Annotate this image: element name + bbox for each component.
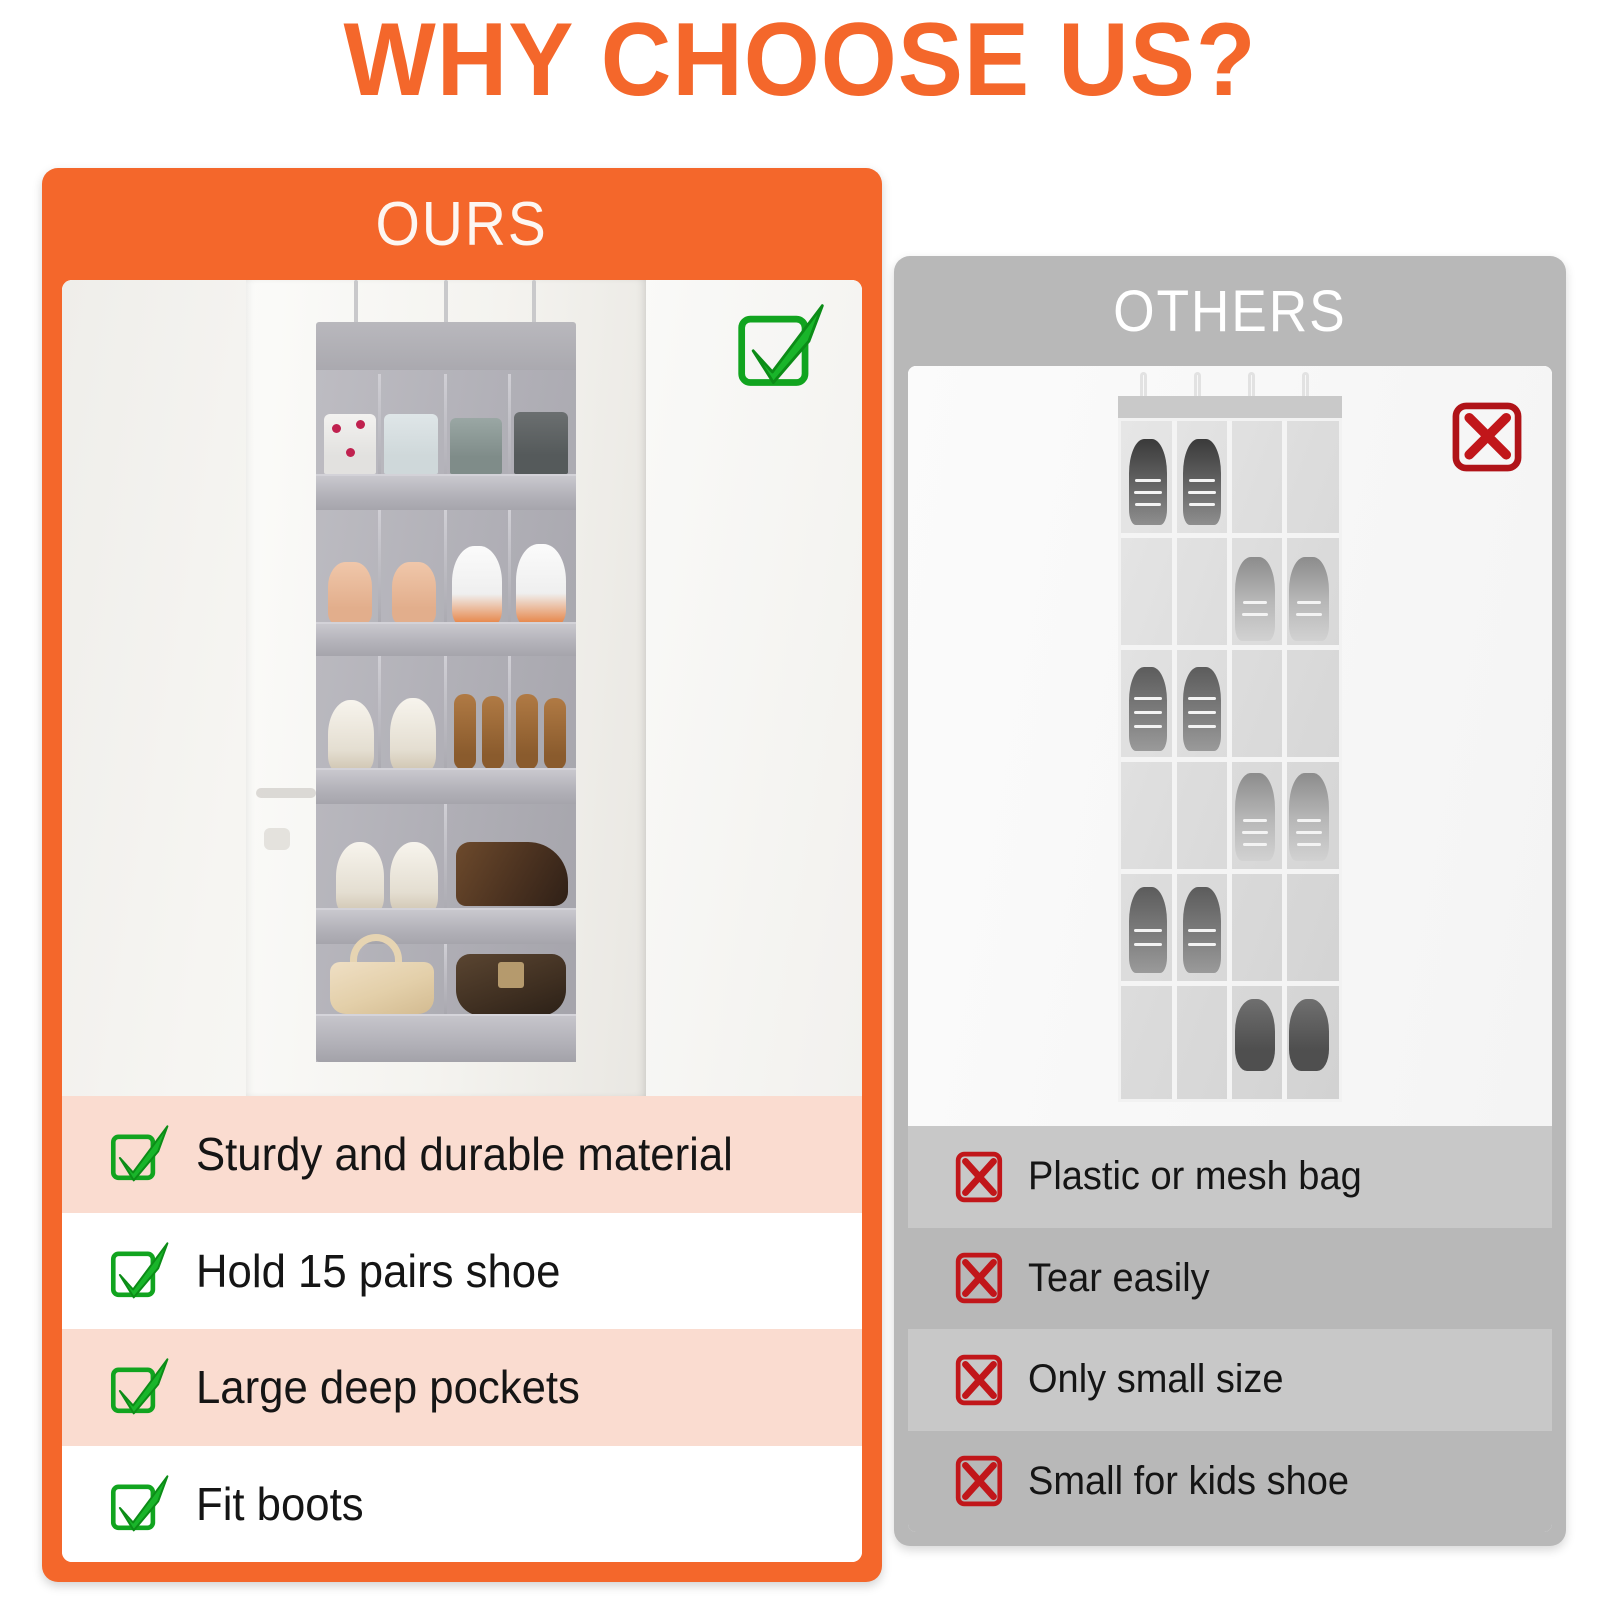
pocket-divider — [378, 656, 381, 784]
hook-strap — [354, 280, 358, 326]
list-item[interactable]: Hold 15 pairs shoe — [62, 1213, 862, 1330]
list-item-label: Small for kids shoe — [1028, 1459, 1349, 1504]
stored-shoe — [1183, 887, 1221, 973]
list-item[interactable]: Large deep pockets — [62, 1329, 862, 1446]
list-item[interactable]: Only small size — [908, 1329, 1552, 1431]
stored-shoe — [392, 562, 436, 624]
others-header-label: OTHERS — [1113, 278, 1346, 345]
list-item-label: Hold 15 pairs shoe — [196, 1244, 560, 1298]
stored-item — [384, 414, 438, 474]
stored-shoe — [1129, 667, 1167, 751]
stored-shoe — [454, 694, 476, 770]
stored-shoe — [482, 696, 504, 770]
door-handle-icon — [256, 788, 316, 798]
stored-shoe — [516, 544, 566, 626]
stored-item — [324, 414, 376, 474]
hook-icon — [1194, 372, 1201, 396]
pocket-divider — [508, 510, 511, 638]
fabric-organizer — [316, 322, 576, 1062]
comparison-infographic: WHY CHOOSE US? OURS — [0, 0, 1600, 1600]
green-check-icon — [734, 298, 830, 394]
pocket-band — [316, 622, 576, 656]
mesh-organizer — [1118, 390, 1342, 1102]
stored-shoe — [390, 698, 436, 772]
stored-shoe — [1183, 439, 1221, 525]
stored-shoe — [390, 842, 438, 914]
stored-slipper — [1235, 999, 1275, 1071]
stored-shoe — [1235, 557, 1275, 641]
stored-handbag — [330, 962, 434, 1014]
others-card: Plastic or mesh bag Tear easily — [908, 366, 1552, 1532]
list-item-label: Fit boots — [196, 1477, 364, 1531]
stored-shoe — [328, 700, 374, 772]
pocket-front-panel — [316, 1014, 576, 1062]
hook-strap — [444, 280, 448, 326]
stored-shoe — [336, 842, 384, 914]
others-product-photo — [908, 366, 1552, 1126]
stored-shoe — [1235, 773, 1275, 861]
hook-icon — [1248, 372, 1255, 396]
list-item[interactable]: Plastic or mesh bag — [908, 1126, 1552, 1228]
ours-feature-list: Sturdy and durable material Hold 15 pair… — [62, 1096, 862, 1562]
list-item-label: Only small size — [1028, 1357, 1284, 1402]
pocket-divider — [444, 944, 447, 1018]
stored-boot — [456, 842, 568, 906]
ours-header-label: OURS — [376, 189, 548, 260]
red-cross-icon — [954, 1151, 1006, 1203]
ours-card: Sturdy and durable material Hold 15 pair… — [62, 280, 862, 1562]
pocket-divider — [444, 656, 447, 784]
list-item-label: Tear easily — [1028, 1256, 1210, 1301]
list-item[interactable]: Sturdy and durable material — [62, 1096, 862, 1213]
organizer-top-panel — [316, 322, 576, 374]
stored-item — [450, 418, 502, 474]
ours-panel-header: OURS — [42, 168, 882, 280]
pocket-divider — [378, 510, 381, 638]
green-check-icon — [108, 1121, 174, 1187]
list-item-label: Plastic or mesh bag — [1028, 1154, 1362, 1199]
stored-item — [514, 412, 568, 474]
stored-bag — [456, 954, 566, 1016]
stored-shoe — [1129, 887, 1167, 973]
hook-icon — [1302, 372, 1309, 396]
green-check-icon — [108, 1471, 174, 1537]
stored-shoe — [1289, 557, 1329, 641]
list-item-label: Large deep pockets — [196, 1360, 580, 1414]
pocket-divider — [508, 656, 511, 784]
stored-shoe — [1183, 667, 1221, 751]
list-item[interactable]: Fit boots — [62, 1446, 862, 1563]
stored-slipper — [1289, 999, 1329, 1071]
mesh-top-band — [1118, 396, 1342, 418]
ours-panel: OURS — [42, 168, 882, 1582]
page-title: WHY CHOOSE US? — [48, 2, 1552, 118]
green-check-icon — [108, 1238, 174, 1304]
door-lock-icon — [264, 828, 290, 850]
hook-icon — [1140, 372, 1147, 396]
list-item-label: Sturdy and durable material — [196, 1127, 733, 1181]
others-panel: OTHERS — [894, 256, 1566, 1546]
stored-shoe — [516, 694, 538, 770]
stored-shoe — [452, 546, 502, 626]
stored-shoe — [1289, 773, 1329, 861]
pocket-band — [316, 474, 576, 510]
red-cross-icon — [954, 1252, 1006, 1304]
hook-strap — [532, 280, 536, 326]
green-check-icon — [108, 1354, 174, 1420]
mesh-body — [1118, 418, 1342, 1102]
stored-shoe — [328, 562, 372, 624]
stored-shoe — [544, 698, 566, 770]
red-cross-icon — [954, 1455, 1006, 1507]
red-cross-icon — [954, 1354, 1006, 1406]
others-feature-list: Plastic or mesh bag Tear easily — [908, 1126, 1552, 1532]
pocket-divider — [444, 510, 447, 638]
ours-product-photo — [62, 280, 862, 1096]
pocket-band — [316, 908, 576, 944]
red-cross-icon — [1450, 400, 1524, 474]
stored-shoe — [1129, 439, 1167, 525]
list-item[interactable]: Small for kids shoe — [908, 1431, 1552, 1533]
others-panel-header: OTHERS — [894, 256, 1566, 366]
pocket-band — [316, 768, 576, 804]
list-item[interactable]: Tear easily — [908, 1228, 1552, 1330]
